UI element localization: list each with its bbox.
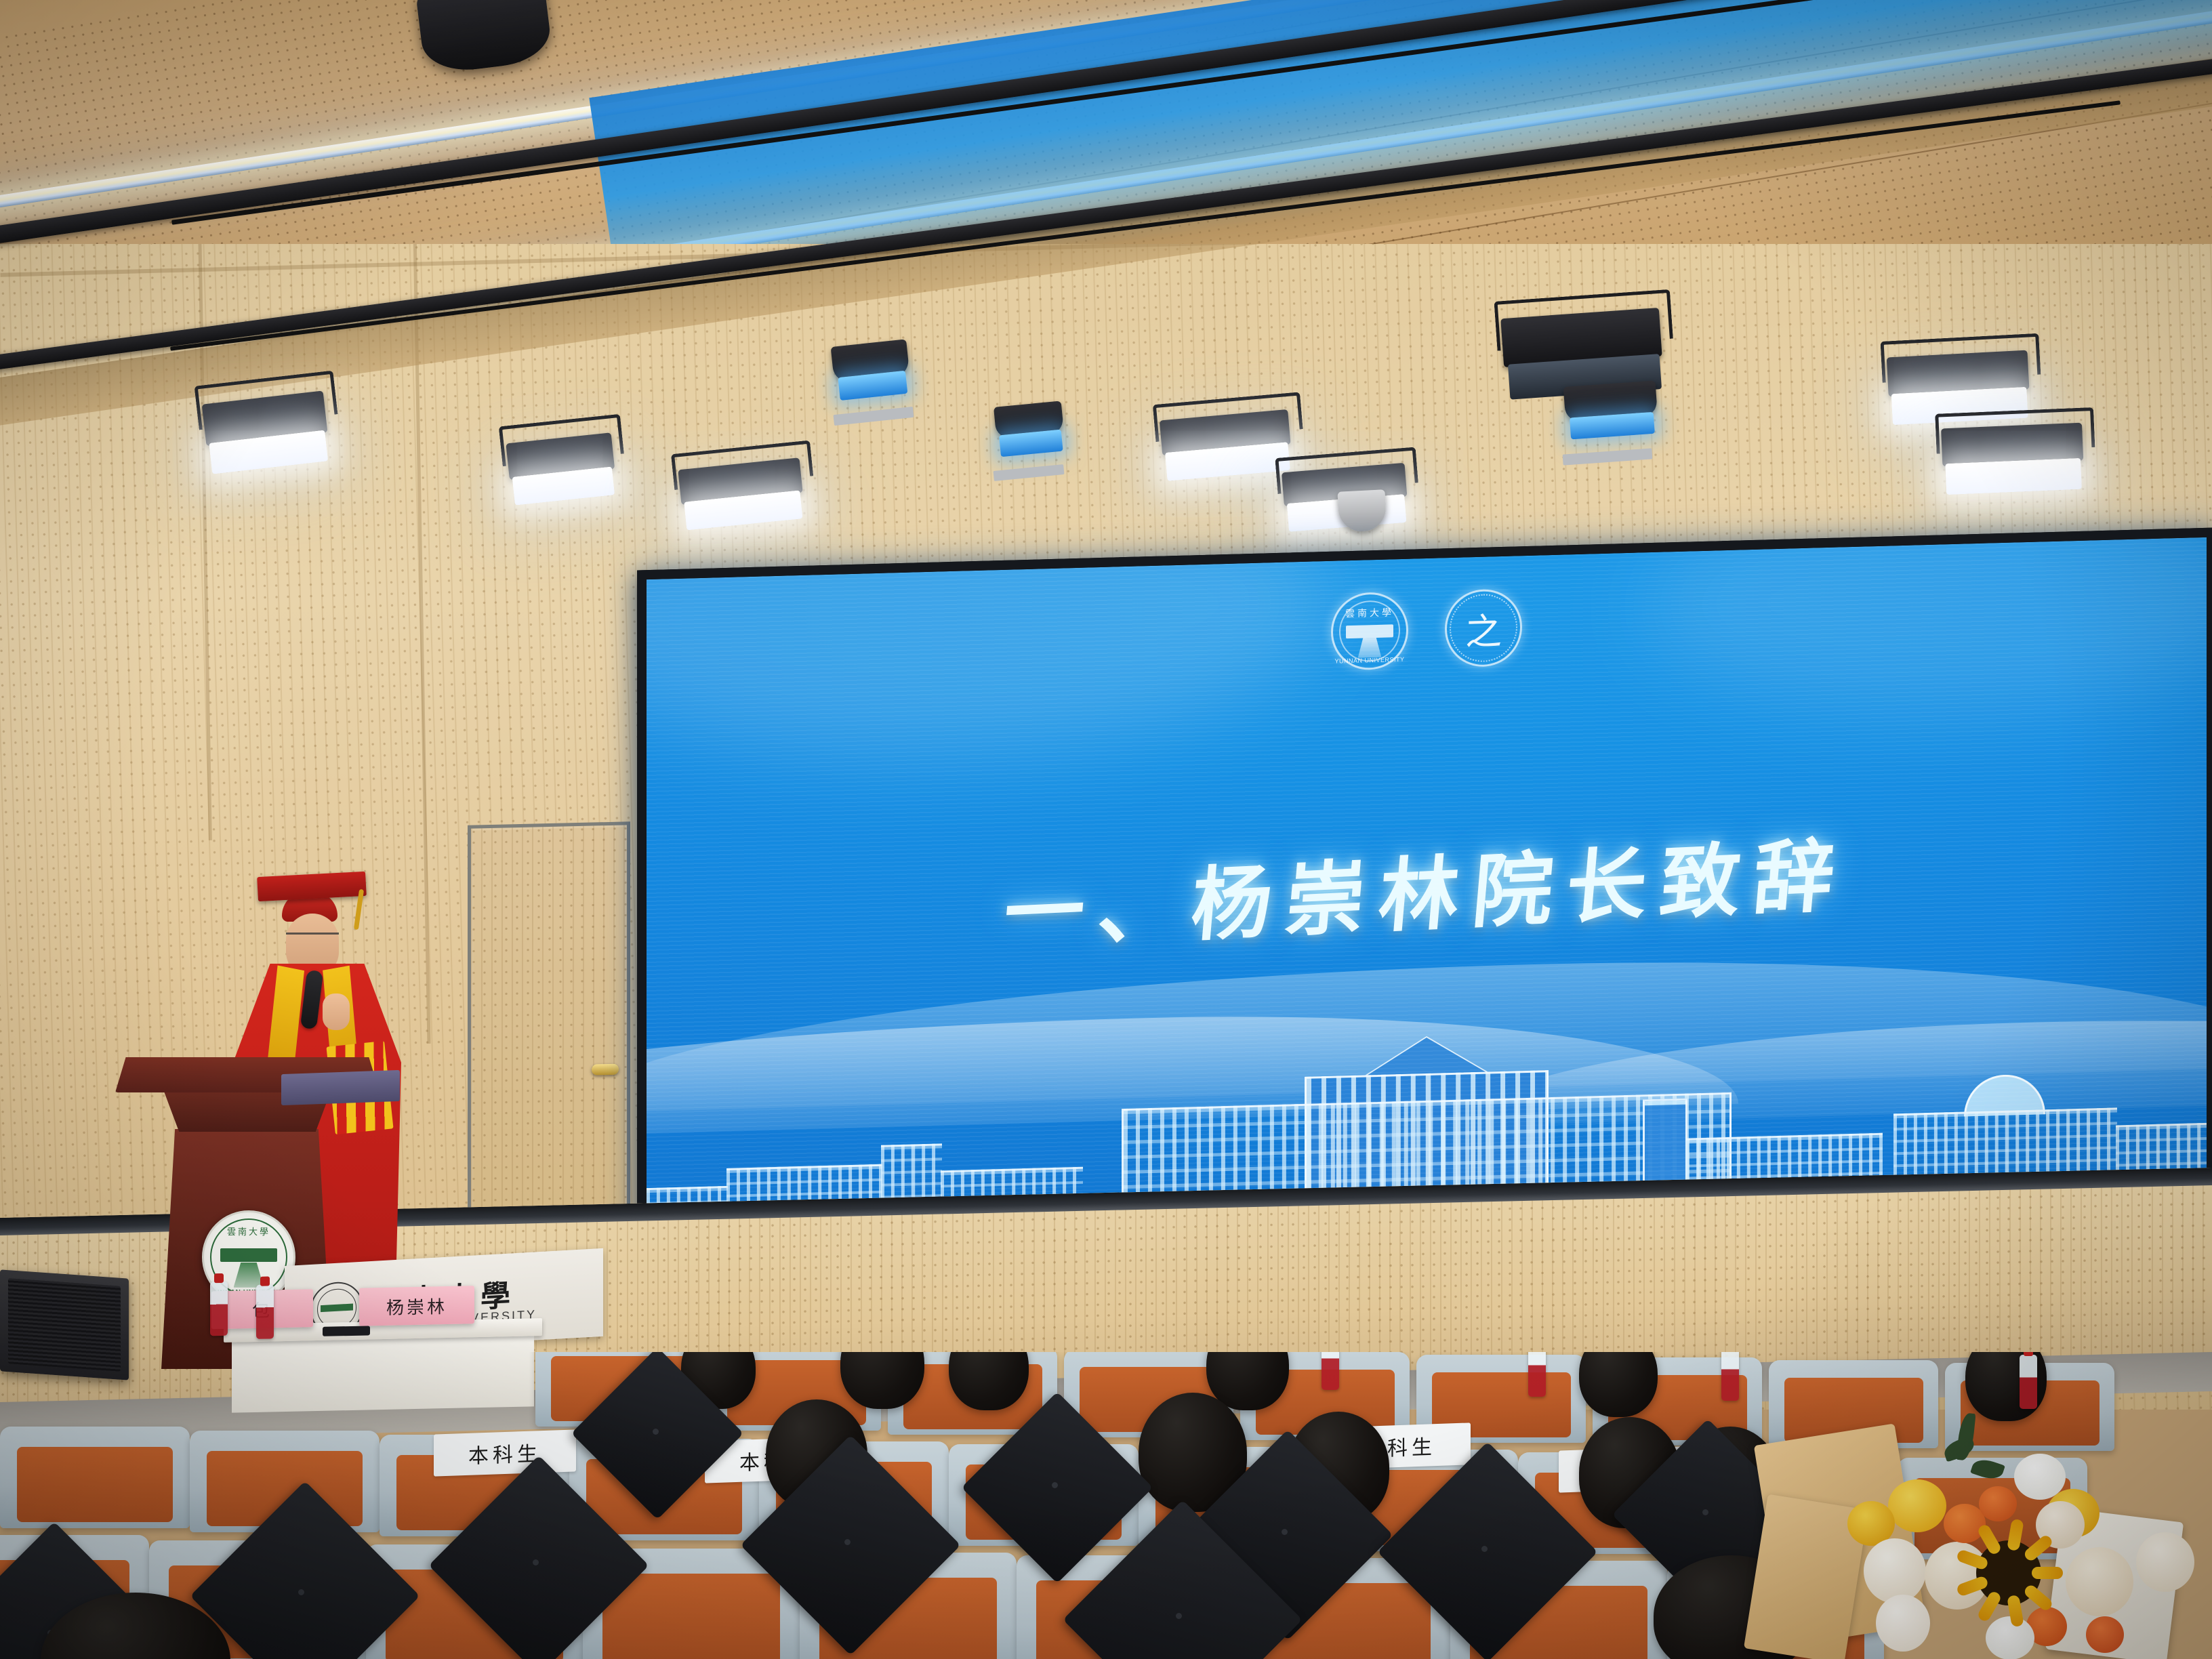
nameplate-right-text: 杨崇林 — [386, 1293, 447, 1319]
bouquet-flower-cream — [2136, 1532, 2194, 1592]
emblem-glyph: 之 — [1447, 590, 1520, 665]
glasses-icon — [286, 933, 339, 945]
phone-on-table[interactable] — [323, 1326, 370, 1336]
mortarboard-cap-icon — [461, 1488, 617, 1643]
speaker-hand — [323, 994, 350, 1030]
graduation-cap-board-icon — [257, 872, 367, 901]
lectern-seal-top-chars: 雲南大學 — [204, 1225, 293, 1237]
auditorium-seat[interactable] — [0, 1427, 190, 1528]
mortarboard-cap-icon — [773, 1467, 928, 1623]
bouquet-leaf — [1970, 1456, 2005, 1483]
bouquet-flower-white — [1986, 1616, 2034, 1659]
bouquet-flower-cream — [1876, 1595, 1930, 1652]
laptop-on-lectern[interactable] — [281, 1070, 400, 1105]
stage-light-fixture — [185, 371, 350, 483]
bouquet-flower-white — [2014, 1454, 2066, 1500]
slide-logo-row: 雲南大學 YUNNAN UNIVERSITY 之 — [647, 570, 2207, 689]
water-bottle[interactable] — [2020, 1355, 2037, 1409]
bouquet-flower-cream — [2066, 1547, 2133, 1616]
water-bottle[interactable] — [210, 1282, 228, 1336]
stage-light-fixture — [823, 333, 920, 413]
bouquet-leaf — [1942, 1436, 1977, 1462]
building-pediment — [1364, 1036, 1489, 1078]
yunnan-university-seal-icon: 雲南大學 YUNNAN UNIVERSITY — [1331, 592, 1408, 671]
bouquet-flower-cream — [1864, 1538, 1926, 1603]
stage-light-fixture — [1556, 376, 1669, 458]
bouquet-flower-orange — [2086, 1616, 2124, 1653]
seal-top-chars: 雲南大學 — [1333, 605, 1406, 621]
mortarboard-cap-icon — [596, 1372, 718, 1494]
seat-sign: 本科生 — [434, 1429, 576, 1476]
stage-light-fixture — [1923, 407, 2103, 510]
flower-bouquet — [1762, 1413, 2209, 1659]
water-bottle[interactable] — [1528, 1352, 1546, 1397]
slide-title: 一、杨崇林院长致辞 — [647, 794, 2207, 982]
stage-light-fixture — [491, 413, 634, 515]
door-handle-icon[interactable] — [592, 1064, 619, 1076]
sunflower-icon — [1976, 1540, 2041, 1605]
seal-bottom-text: YUNNAN UNIVERSITY — [1333, 655, 1406, 664]
water-bottle[interactable] — [256, 1284, 274, 1339]
auditorium-photo: 雲南大學 YUNNAN UNIVERSITY 之 一、杨崇林院长致辞 — [0, 0, 2212, 1659]
bouquet-flower-orange — [1979, 1486, 2017, 1521]
mortarboard-cap-icon — [1410, 1474, 1565, 1630]
stage-light-fixture — [986, 396, 1073, 471]
audience-head — [1579, 1352, 1658, 1417]
slide-canvas: 雲南大學 YUNNAN UNIVERSITY 之 一、杨崇林院长致辞 — [647, 537, 2207, 1248]
nameplate-right: 杨崇林 — [359, 1286, 474, 1326]
mortarboard-cap-icon — [1098, 1535, 1267, 1659]
bouquet-flower-yellow — [1888, 1479, 1946, 1532]
stage-light-fixture — [660, 440, 824, 544]
led-video-wall: 雲南大學 YUNNAN UNIVERSITY 之 一、杨崇林院长致辞 — [637, 527, 2212, 1258]
institute-emblem-icon: 之 — [1445, 588, 1522, 668]
water-bottle[interactable] — [1721, 1352, 1739, 1401]
mortarboard-cap-icon — [224, 1515, 386, 1659]
water-bottle[interactable] — [1322, 1352, 1339, 1390]
